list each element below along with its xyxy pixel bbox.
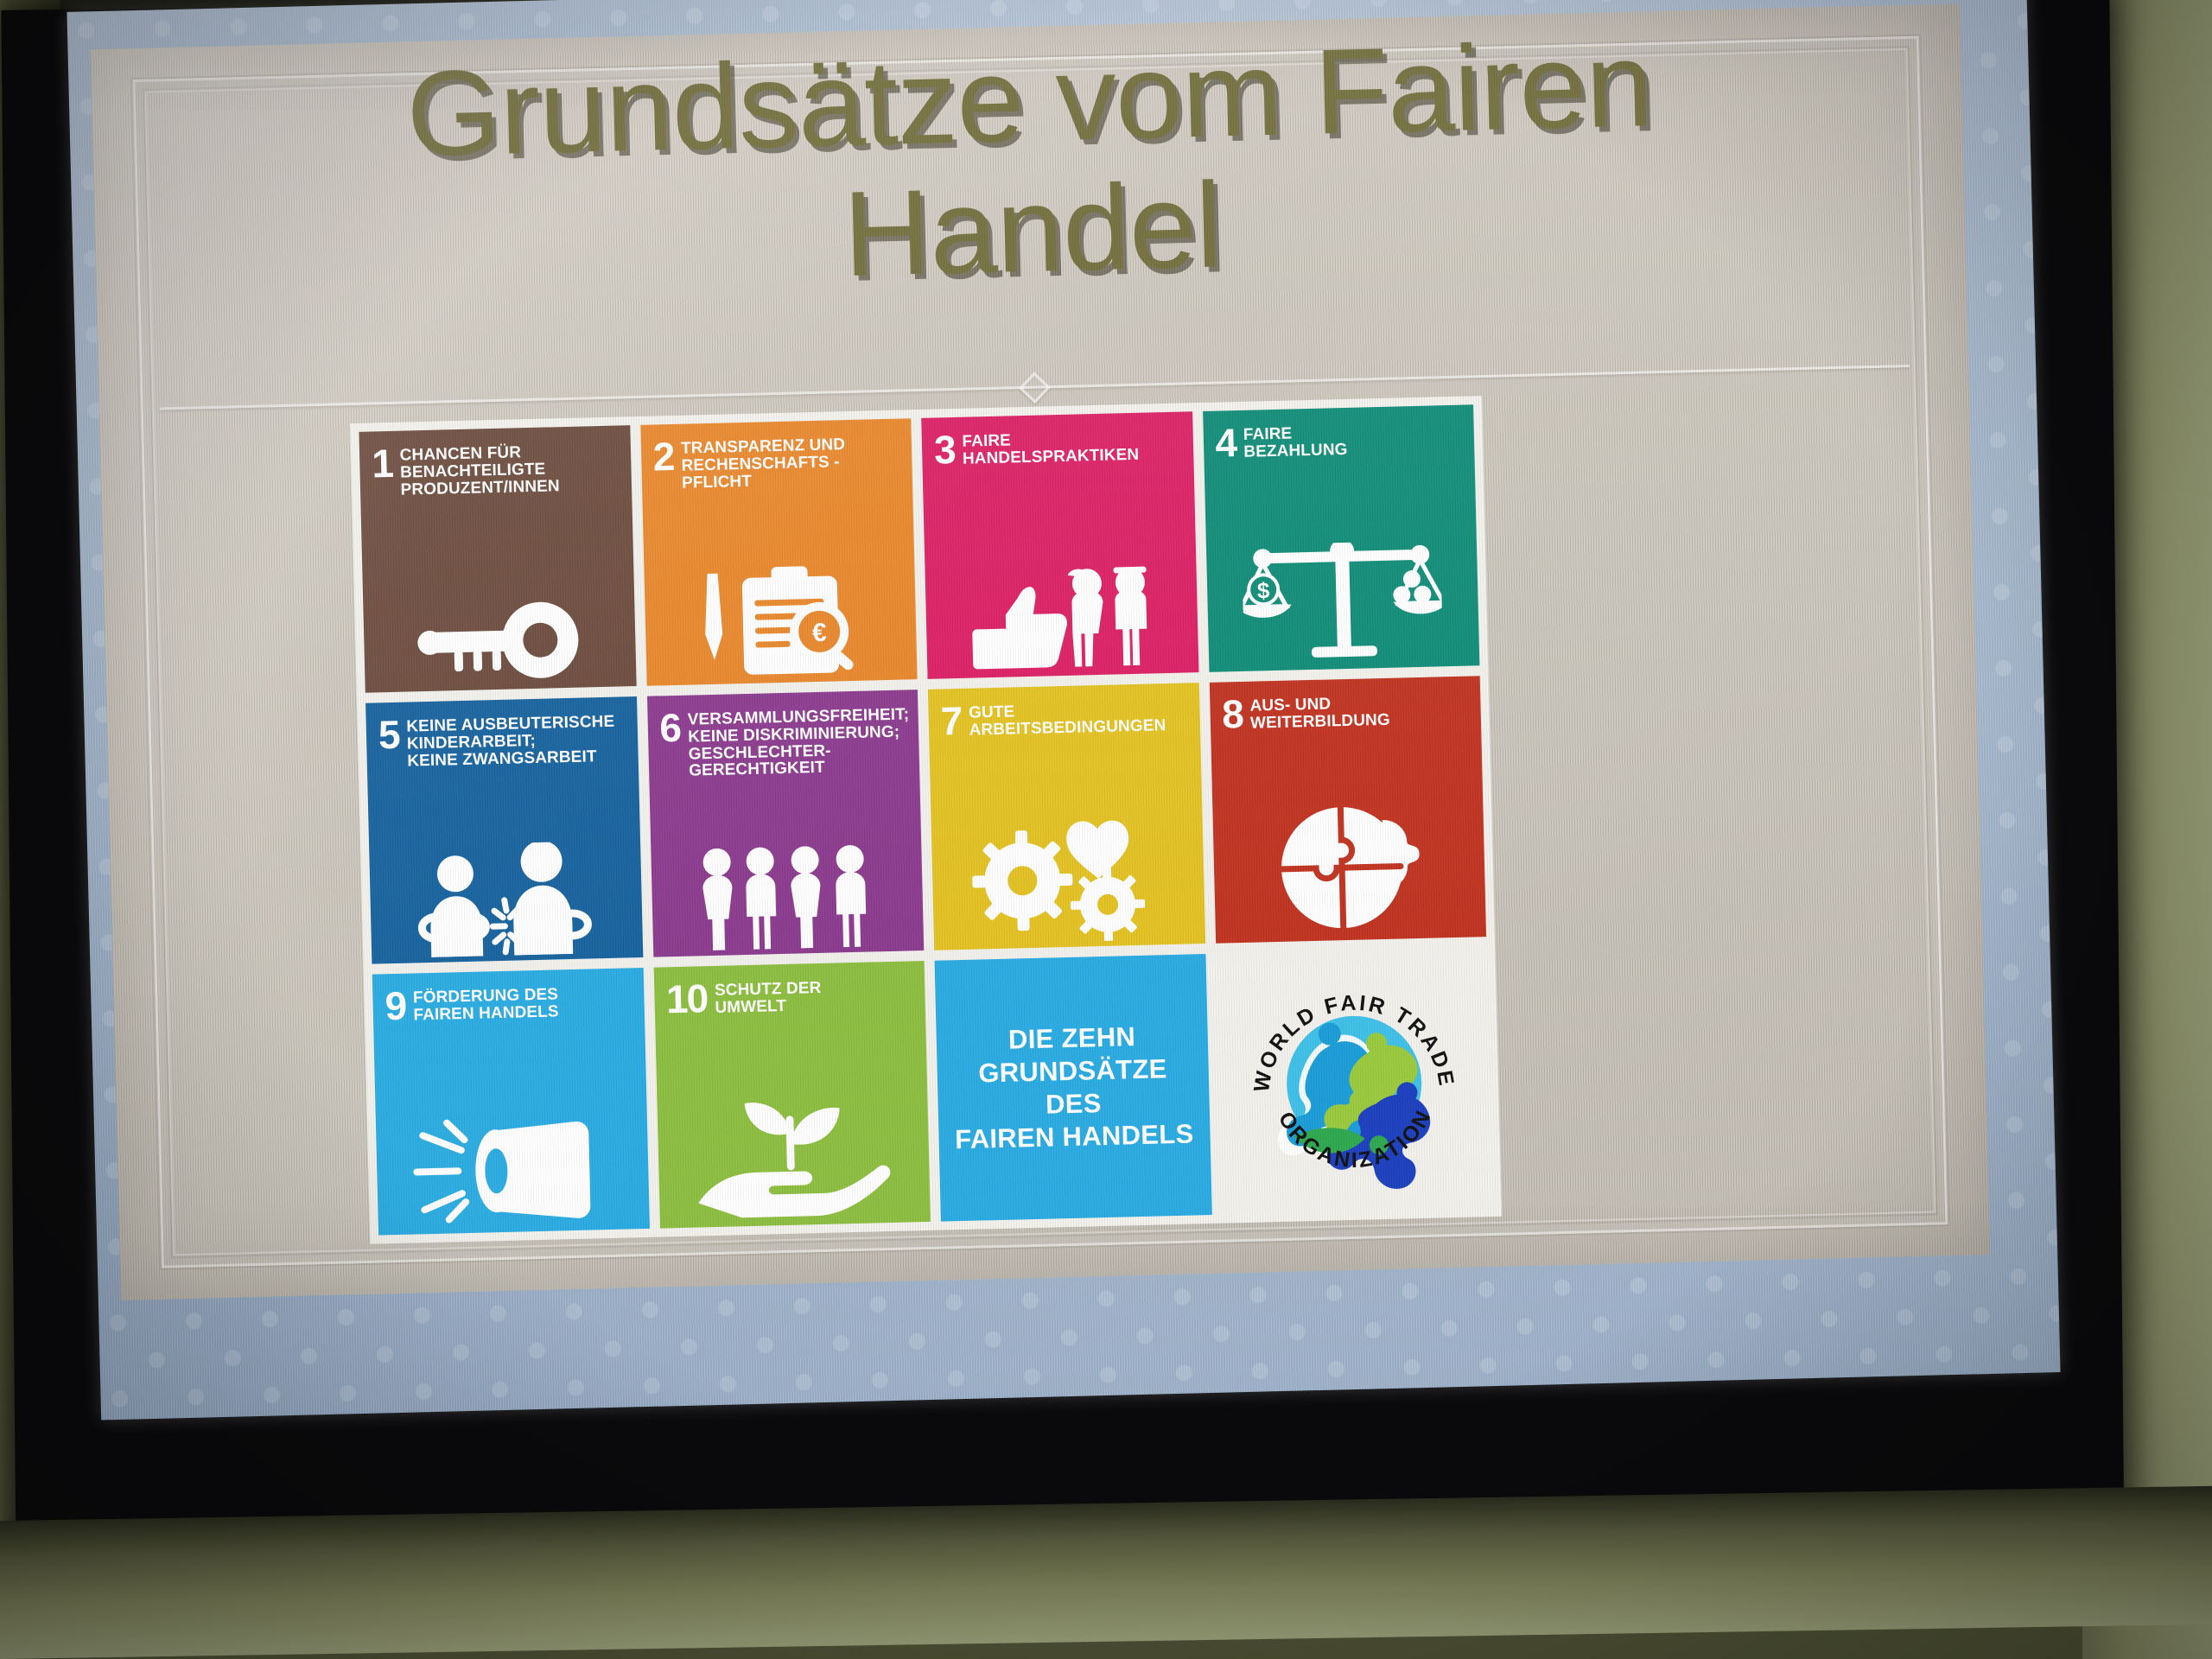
megaphone-icon [375, 1094, 649, 1230]
tile-number: 3 [934, 431, 956, 468]
tile-header: 6 Versammlungsfreiheit; keine Diskrimini… [659, 703, 907, 780]
tile-number: 9 [385, 988, 406, 1025]
balance-scale-icon: $ [1205, 531, 1479, 667]
principle-tile-7[interactable]: 7 Gute Arbeitsbedingungen [928, 683, 1205, 950]
tile-header: 4 Faire Bezahlung [1215, 419, 1462, 461]
tile-number: 2 [652, 438, 674, 475]
tile-header: 1 Chancen für Benachteiligte Produzent/i… [372, 440, 620, 499]
tile-label: Aus- und Weiterbildung [1249, 692, 1390, 732]
thumbs-up-people-icon [925, 537, 1198, 674]
tile-number: 10 [666, 980, 708, 1017]
tile-header: 3 Faire Handelspraktiken [934, 426, 1181, 468]
tile-label: Förderung des Fairen Handels [413, 983, 559, 1024]
tile-number: 5 [378, 716, 399, 753]
tile-label: Chancen für Benachteiligte Produzent/inn… [399, 441, 560, 499]
tile-header: 9 Förderung des Fairen Handels [385, 982, 632, 1024]
principle-tile-4[interactable]: 4 Faire Bezahlung [1203, 404, 1480, 672]
infographic-caption-tile: Die zehn Grundsätze des Fairen Handels [935, 954, 1212, 1222]
tile-header: 2 Transparenz und Rechenschafts - pflich… [652, 433, 900, 493]
slide-title: Grundsätze vom Fairen Handel [194, 13, 1868, 315]
infographic-caption-text: Die zehn Grundsätze des Fairen Handels [952, 1020, 1194, 1156]
principle-tile-3[interactable]: 3 Faire Handelspraktiken [921, 411, 1198, 679]
tile-number: 4 [1215, 424, 1236, 461]
photo-scene: Grundsätze vom Fairen Handel 1 Chancen f… [0, 0, 2212, 1659]
clipboard-magnifier-icon: € [643, 544, 917, 681]
tile-label: Transparenz und Rechenschafts - pflicht [681, 434, 847, 492]
tile-header: 5 Keine ausbeuterische Kinderarbeit; kei… [378, 710, 626, 770]
slide-outer-border: Grundsätze vom Fairen Handel 1 Chancen f… [67, 0, 2060, 1420]
tile-header: 8 Aus- und Weiterbildung [1222, 690, 1469, 733]
slide-content-sheet: Grundsätze vom Fairen Handel 1 Chancen f… [90, 3, 1990, 1300]
key-icon [362, 551, 636, 688]
four-people-icon [650, 816, 924, 952]
world-fair-trade-organization-logo: WORLD FAIR TRADE ORGANIZATION [1235, 962, 1474, 1201]
principle-tile-1[interactable]: 1 Chancen für Benachteiligte Produzent/i… [359, 425, 636, 693]
hand-plant-icon [657, 1087, 931, 1224]
broken-chain-people-icon [369, 823, 643, 959]
principle-tile-6[interactable]: 6 Versammlungsfreiheit; keine Diskrimini… [646, 690, 924, 957]
principle-tile-2[interactable]: 2 Transparenz und Rechenschafts - pflich… [640, 418, 918, 686]
tile-number: 1 [372, 445, 393, 482]
divider-diamond-ornament [1019, 372, 1051, 404]
tile-label: Versammlungsfreiheit; keine Diskriminier… [687, 703, 910, 779]
gears-heart-icon [931, 809, 1205, 945]
tile-number: 6 [659, 709, 681, 747]
puzzle-globe-icon [1212, 802, 1486, 938]
svg-text:€: € [812, 619, 828, 647]
tile-label: Keine ausbeuterische Kinderarbeit; keine… [406, 711, 615, 770]
divider-line [160, 365, 1910, 410]
tile-label: Gute Arbeitsbedingungen [969, 697, 1166, 739]
tile-label: Schutz der Umwelt [715, 977, 822, 1017]
principle-tile-9[interactable]: 9 Förderung des Fairen Handels [372, 968, 650, 1236]
svg-text:$: $ [1257, 577, 1271, 603]
tile-label: Faire Bezahlung [1243, 422, 1348, 461]
principle-tile-10[interactable]: 10 Schutz der Umwelt [653, 961, 931, 1229]
tile-header: 10 Schutz der Umwelt [666, 975, 913, 1017]
tile-header: 7 Gute Arbeitsbedingungen [940, 697, 1187, 740]
tile-label: Faire Handelspraktiken [962, 427, 1139, 467]
principle-tile-5[interactable]: 5 Keine ausbeuterische Kinderarbeit; kei… [365, 696, 643, 964]
tile-number: 8 [1222, 696, 1243, 733]
projection-screen-bezel: Grundsätze vom Fairen Handel 1 Chancen f… [1, 0, 2124, 1574]
wfto-logo-tile: WORLD FAIR TRADE ORGANIZATION [1216, 947, 1493, 1215]
principle-tile-8[interactable]: 8 Aus- und Weiterbildung [1209, 676, 1486, 944]
tile-number: 7 [940, 702, 962, 740]
ten-principles-infographic: 1 Chancen für Benachteiligte Produzent/i… [350, 396, 1502, 1244]
